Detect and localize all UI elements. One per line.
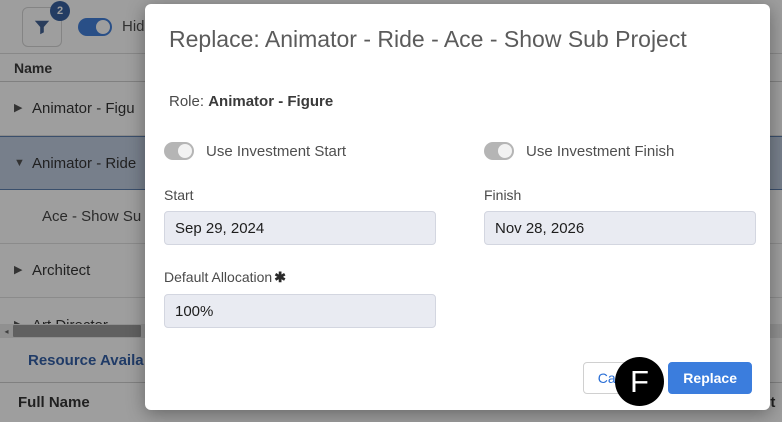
use-investment-start-switch[interactable] (164, 142, 194, 160)
use-investment-start-toggle[interactable]: Use Investment Start (164, 139, 436, 163)
use-investment-start-label: Use Investment Start (206, 143, 346, 160)
toggle-knob (178, 144, 192, 158)
key-hint-badge: F (615, 357, 664, 406)
default-allocation-text: Default Allocation (164, 269, 272, 285)
finish-date-input[interactable]: Nov 28, 2026 (484, 211, 756, 245)
required-asterisk-icon: ✱ (274, 269, 286, 285)
dialog-footer: Cancel Replace (583, 362, 752, 394)
start-field-label: Start (164, 187, 436, 203)
role-value: Animator - Figure (208, 93, 333, 110)
replace-button[interactable]: Replace (668, 362, 752, 394)
start-date-input[interactable]: Sep 29, 2024 (164, 211, 436, 245)
finish-field-label: Finish (484, 187, 756, 203)
use-investment-finish-toggle[interactable]: Use Investment Finish (484, 139, 756, 163)
start-column: Use Investment Start Start Sep 29, 2024 … (164, 139, 436, 328)
finish-column: Use Investment Finish Finish Nov 28, 202… (484, 139, 756, 245)
replace-dialog: Replace: Animator - Ride - Ace - Show Su… (145, 4, 770, 410)
default-allocation-label: Default Allocation✱ (164, 269, 436, 286)
role-prefix-label: Role: (169, 93, 204, 110)
role-line: Role: Animator - Figure (169, 93, 333, 110)
toggle-knob (498, 144, 512, 158)
default-allocation-input[interactable]: 100% (164, 294, 436, 328)
use-investment-finish-label: Use Investment Finish (526, 143, 674, 160)
use-investment-finish-switch[interactable] (484, 142, 514, 160)
dialog-title: Replace: Animator - Ride - Ace - Show Su… (169, 26, 729, 53)
